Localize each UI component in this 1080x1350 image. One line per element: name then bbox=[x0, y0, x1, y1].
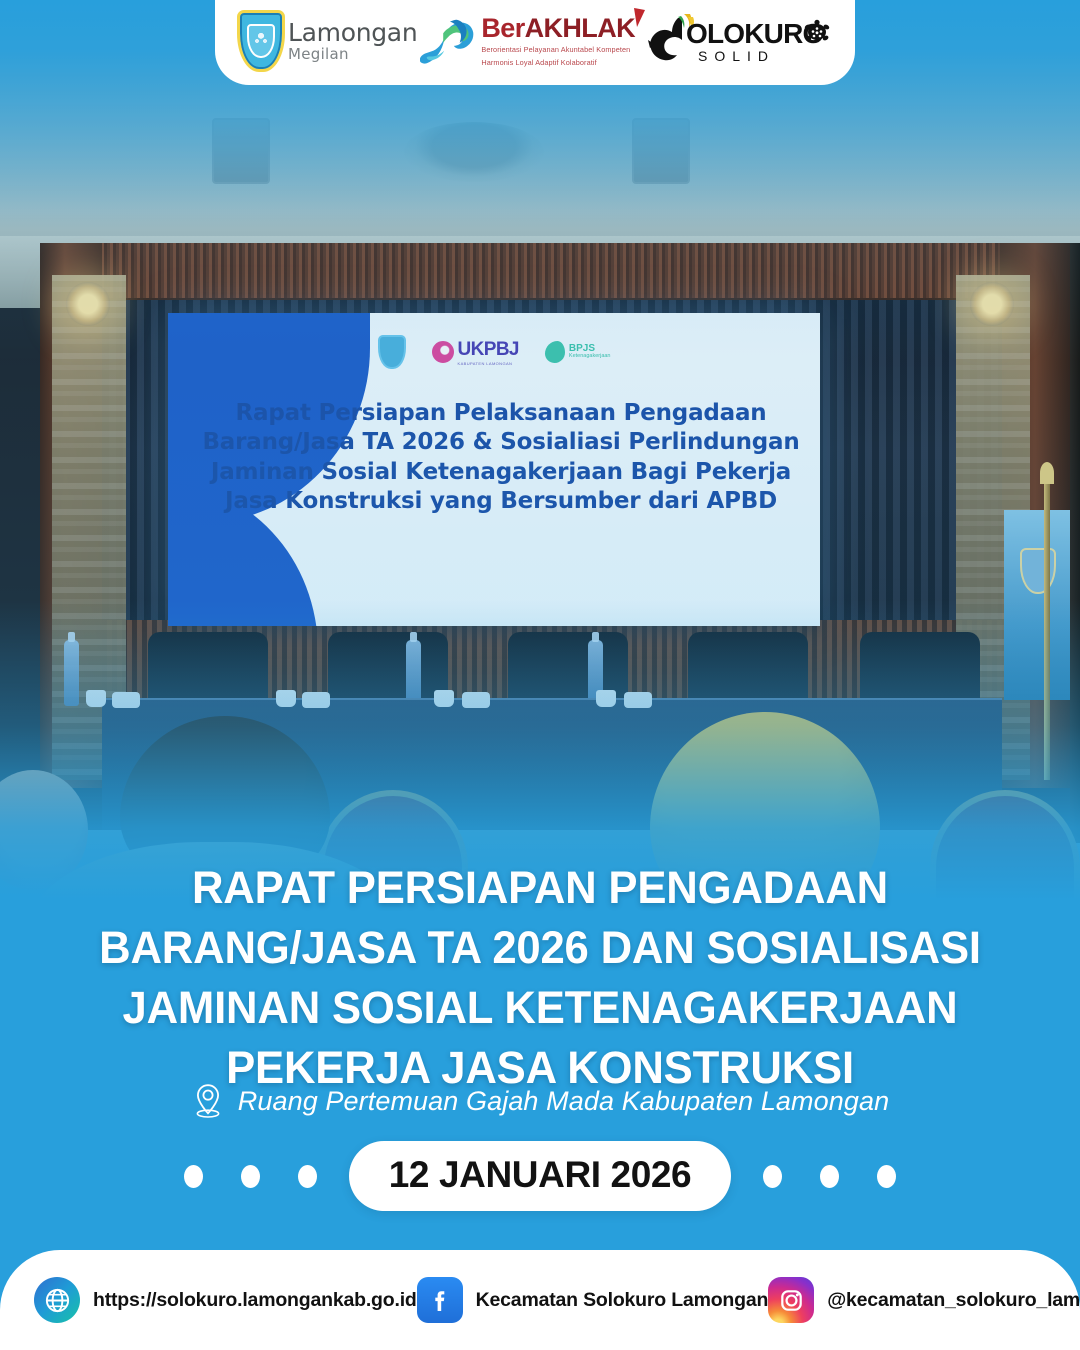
berakhlak-tagline-2: Harmonis Loyal Adaptif Kolaboratif bbox=[481, 58, 635, 68]
footer-contact-bar: https://solokuro.lamongankab.go.id Kecam… bbox=[0, 1250, 1080, 1350]
facebook-label: Kecamatan Solokuro Lamongan bbox=[476, 1289, 769, 1312]
venue-row: Ruang Pertemuan Gajah Mada Kabupaten Lam… bbox=[0, 1082, 1080, 1120]
footer-website[interactable]: https://solokuro.lamongankab.go.id bbox=[34, 1277, 417, 1323]
decorative-dot bbox=[241, 1165, 260, 1188]
footer-facebook[interactable]: Kecamatan Solokuro Lamongan bbox=[417, 1277, 769, 1323]
dots-right bbox=[763, 1165, 896, 1188]
solid-wordmark: SOLID bbox=[698, 49, 775, 63]
solokuro-solid-logo: OLOKURO SOLID bbox=[648, 5, 833, 77]
decorative-dot bbox=[763, 1165, 782, 1188]
facebook-icon bbox=[417, 1277, 463, 1323]
map-pin-icon bbox=[191, 1082, 225, 1120]
lamongan-regency-crest bbox=[237, 5, 285, 77]
title-block: RAPAT PERSIAPAN PENGADAAN BARANG/JASA TA… bbox=[0, 858, 1080, 1097]
turtle-icon bbox=[803, 18, 831, 46]
event-photo: UKPBJ KABUPATEN LAMONGAN BPJS Ketenagake… bbox=[0, 0, 1080, 900]
date-label: 12 JANUARI 2026 bbox=[389, 1154, 691, 1196]
berakhlak-tick-icon bbox=[631, 7, 647, 29]
lamongan-megilan-logo: Lamongan Megilan bbox=[288, 5, 478, 77]
poster-canvas: UKPBJ KABUPATEN LAMONGAN BPJS Ketenagake… bbox=[0, 0, 1080, 1350]
header-logo-bar: Lamongan Megilan BerAKHLAK Berorientasi … bbox=[215, 0, 855, 85]
website-label: https://solokuro.lamongankab.go.id bbox=[93, 1289, 417, 1312]
footer-instagram[interactable]: @kecamatan_solokuro_lamongan bbox=[768, 1277, 1080, 1323]
instagram-label: @kecamatan_solokuro_lamongan bbox=[827, 1289, 1080, 1312]
megilan-label: Megilan bbox=[288, 47, 417, 62]
dots-left bbox=[184, 1165, 317, 1188]
lamongan-label: Lamongan bbox=[288, 20, 417, 45]
berakhlak-logo: BerAKHLAK Berorientasi Pelayanan Akuntab… bbox=[481, 5, 645, 77]
page-title: RAPAT PERSIAPAN PENGADAAN BARANG/JASA TA… bbox=[72, 858, 1007, 1097]
berakhlak-wordmark: BerAKHLAK bbox=[481, 15, 635, 42]
berakhlak-tagline-1: Berorientasi Pelayanan Akuntabel Kompete… bbox=[481, 45, 635, 55]
venue-label: Ruang Pertemuan Gajah Mada Kabupaten Lam… bbox=[238, 1086, 889, 1117]
globe-icon bbox=[34, 1277, 80, 1323]
wave-fish-icon bbox=[420, 12, 478, 70]
date-row: 12 JANUARI 2026 bbox=[0, 1140, 1080, 1212]
decorative-dot bbox=[820, 1165, 839, 1188]
date-badge: 12 JANUARI 2026 bbox=[349, 1141, 731, 1211]
photo-bottom-fade bbox=[0, 600, 1080, 900]
decorative-dot bbox=[184, 1165, 203, 1188]
instagram-icon bbox=[768, 1277, 814, 1323]
decorative-dot bbox=[877, 1165, 896, 1188]
decorative-dot bbox=[298, 1165, 317, 1188]
